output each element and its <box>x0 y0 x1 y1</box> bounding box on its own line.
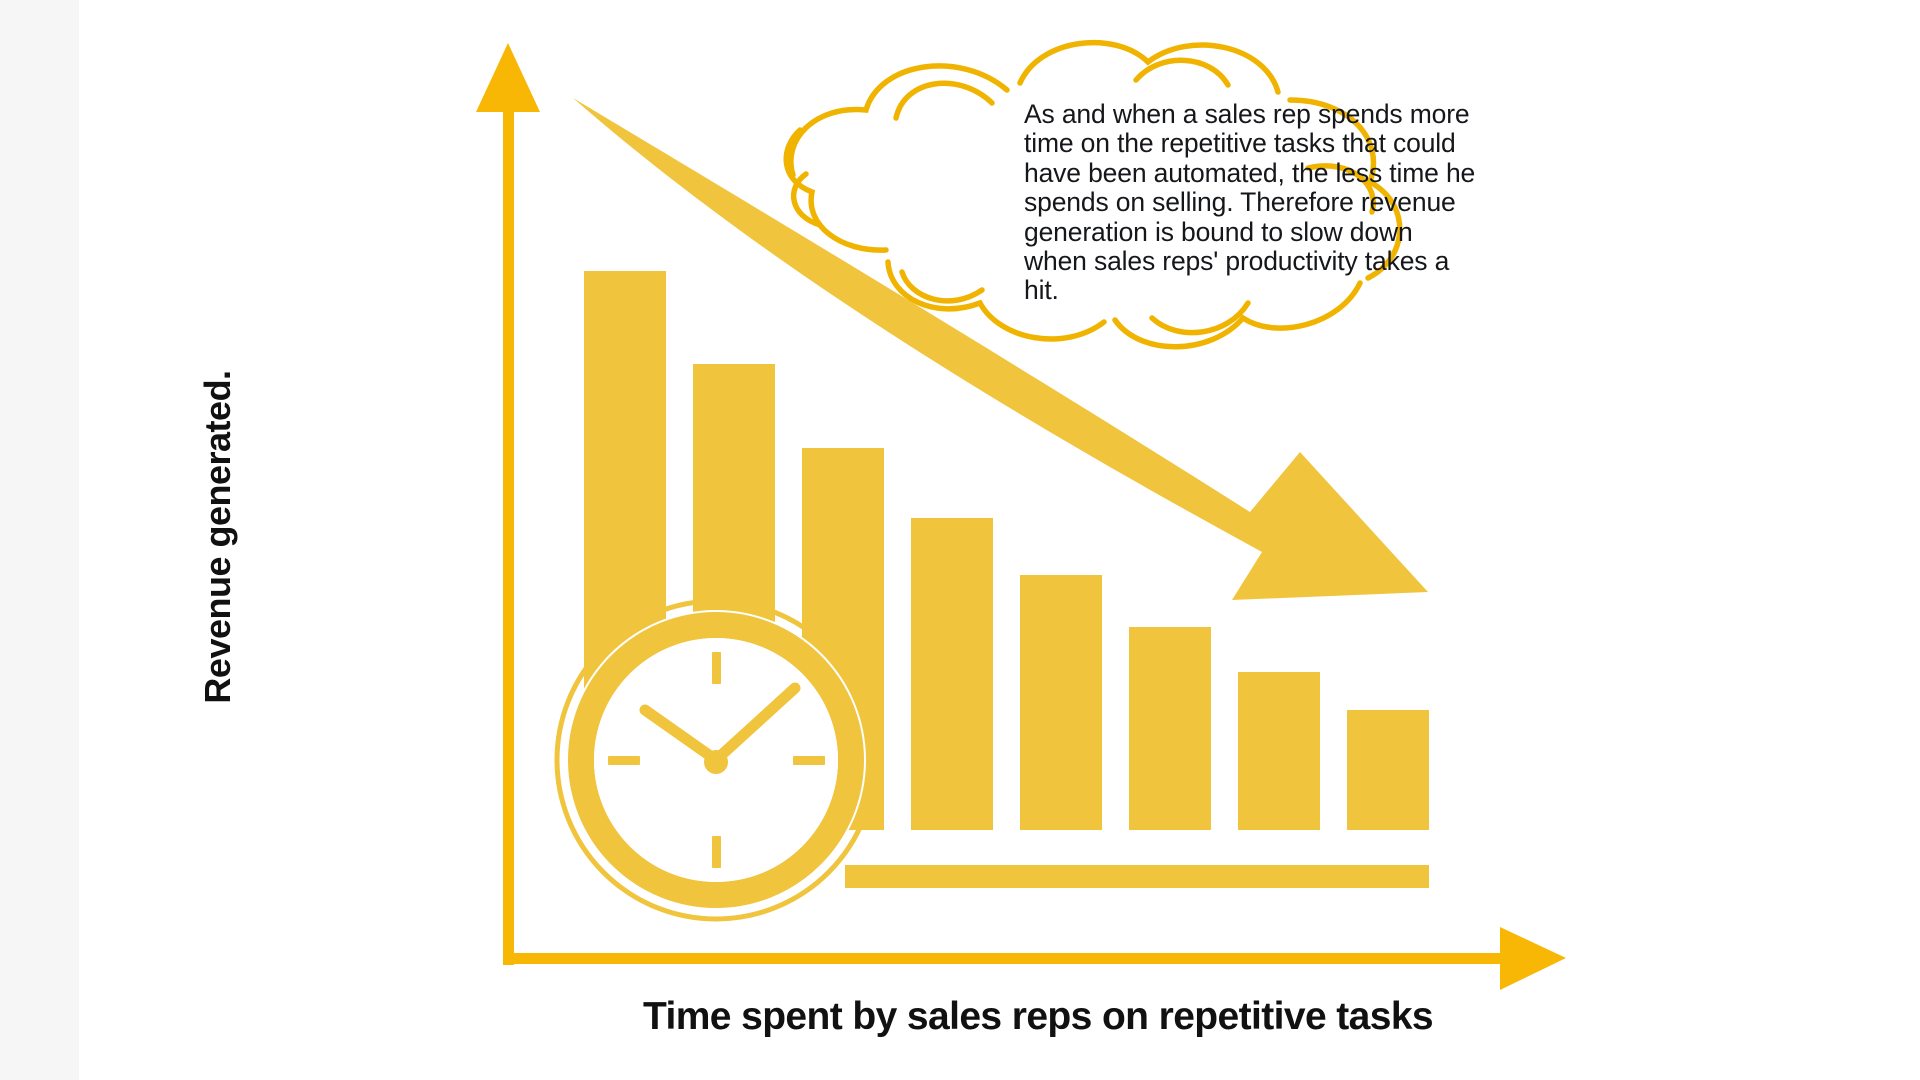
clock-center-pin <box>704 750 728 774</box>
y-axis-line <box>503 75 514 965</box>
infographic-canvas: Revenue generated. Time spent by sales r… <box>0 0 1920 1080</box>
clock-tick-12 <box>712 652 721 684</box>
chart-baseline-bar <box>845 865 1429 888</box>
up-arrow-icon <box>476 43 540 112</box>
clock-tick-6 <box>712 836 721 868</box>
bar-5 <box>1020 575 1102 830</box>
y-axis <box>476 43 540 965</box>
bar-7 <box>1238 672 1320 830</box>
bar-8 <box>1347 710 1429 830</box>
x-axis-line <box>503 953 1523 964</box>
bar-4 <box>911 518 993 830</box>
x-axis-label: Time spent by sales reps on repetitive t… <box>508 995 1568 1039</box>
y-axis-label: Revenue generated. <box>197 277 239 797</box>
bar-6 <box>1129 627 1211 830</box>
clock-icon <box>557 601 875 919</box>
clock-tick-3 <box>793 756 825 765</box>
thought-cloud-text: As and when a sales rep spends more time… <box>1024 100 1476 306</box>
clock-tick-9 <box>608 756 640 765</box>
x-axis <box>503 927 1566 990</box>
chart-artwork <box>0 0 1920 1080</box>
right-arrow-icon <box>1500 927 1566 990</box>
